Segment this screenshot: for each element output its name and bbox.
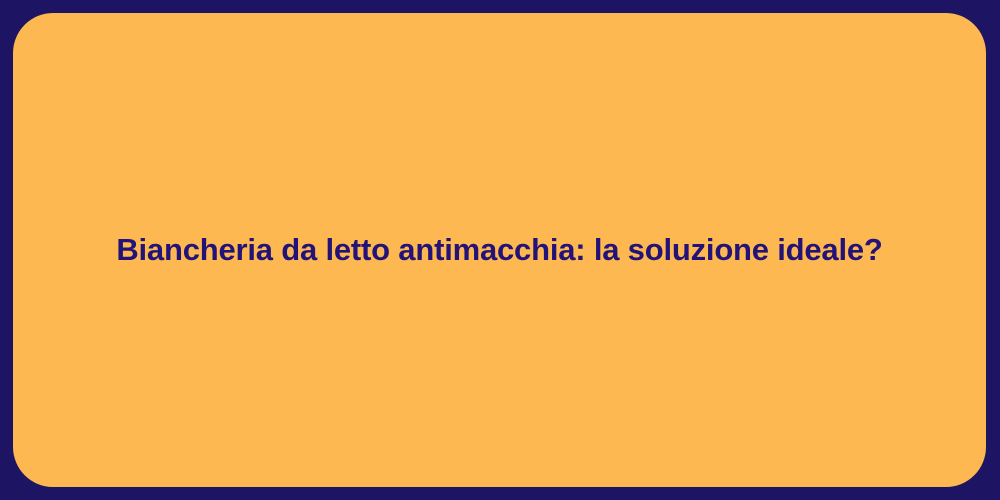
banner-background: Biancheria da letto antimacchia: la solu…	[0, 0, 1000, 500]
banner-title: Biancheria da letto antimacchia: la solu…	[76, 231, 922, 270]
banner-card: Biancheria da letto antimacchia: la solu…	[13, 13, 986, 487]
